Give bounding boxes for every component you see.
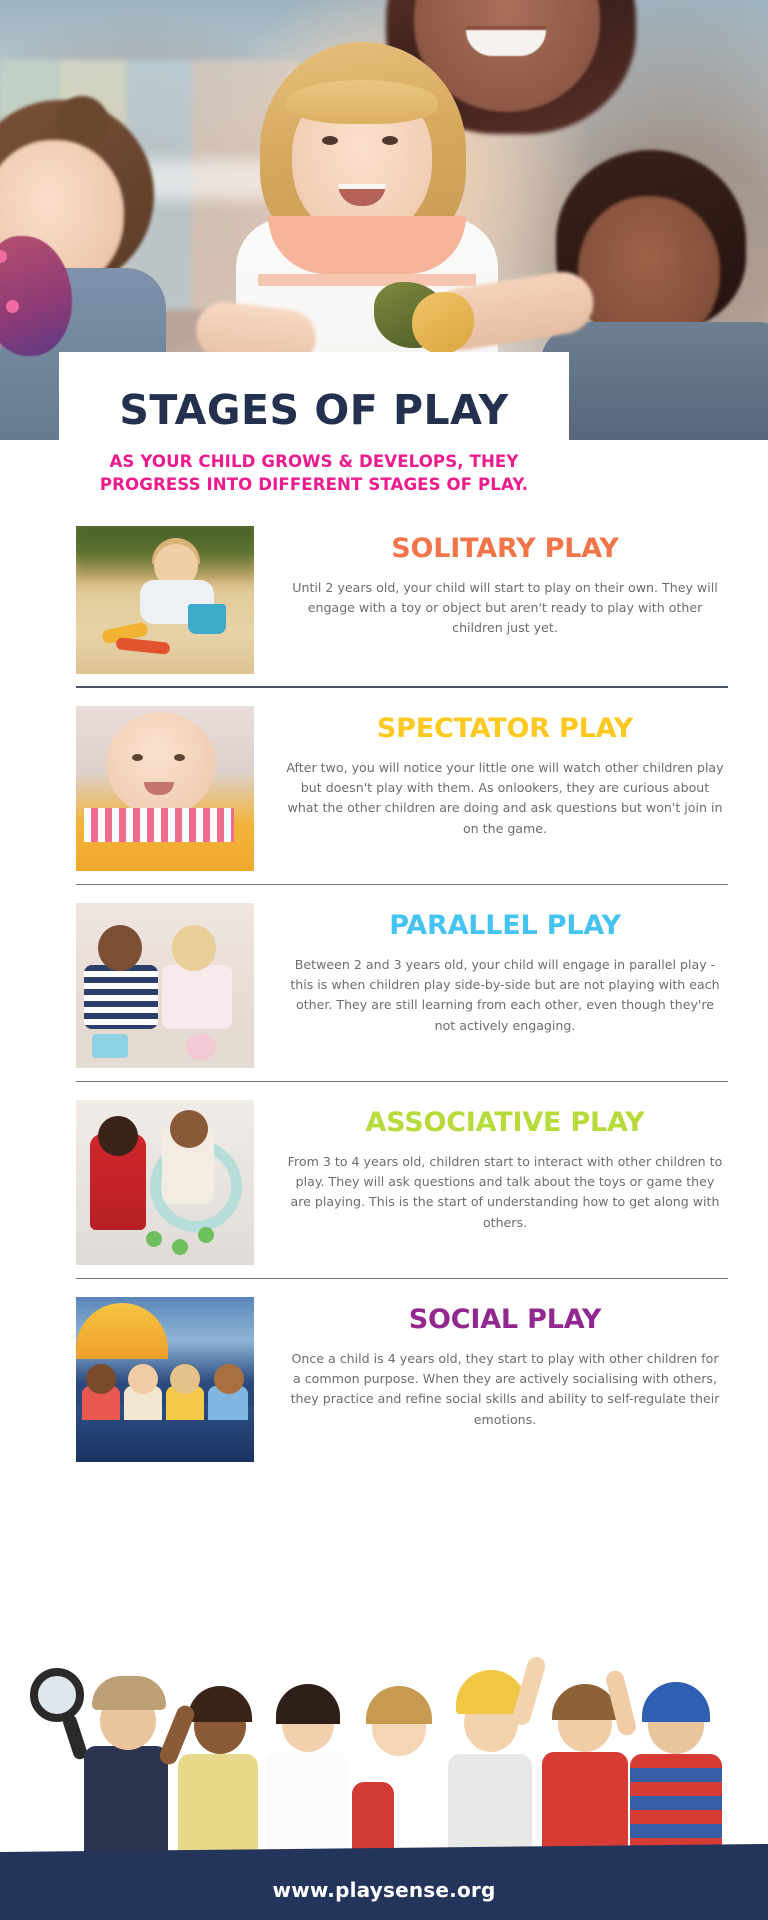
stage-title-spectator-play: SPECTATOR PLAY xyxy=(282,714,728,744)
hero-toy-bead xyxy=(6,300,19,313)
bottom-child-7-superhero-mask xyxy=(642,1682,710,1722)
baby-photo xyxy=(76,706,254,871)
parallel-play-photo xyxy=(76,903,254,1068)
social-child-head xyxy=(170,1364,200,1394)
stage-thumbnail-social-play xyxy=(76,1297,254,1462)
stage-thumbnail-associative-play xyxy=(76,1100,254,1265)
stage-title-parallel-play: PARALLEL PLAY xyxy=(282,911,728,941)
bottom-child-1-hat xyxy=(92,1676,166,1710)
social-child-head xyxy=(86,1364,116,1394)
hero-center-girl-fringe xyxy=(286,80,438,124)
baby-head xyxy=(106,712,216,816)
associative-green-ball xyxy=(146,1231,162,1247)
bottom-child-2-hair xyxy=(188,1686,252,1722)
hero-right-child-body xyxy=(540,322,768,440)
stage-title-solitary-play: SOLITARY PLAY xyxy=(282,534,728,564)
stage-item-spectator-play: SPECTATOR PLAY After two, you will notic… xyxy=(0,688,768,885)
page-subtitle-line-2: PROGRESS INTO DIFFERENT STAGES OF PLAY. xyxy=(71,473,557,497)
stage-text-associative-play: From 3 to 4 years old, children start to… xyxy=(282,1152,728,1234)
magnifying-glass-icon xyxy=(30,1668,84,1722)
stage-item-associative-play: ASSOCIATIVE PLAY From 3 to 4 years old, … xyxy=(0,1082,768,1279)
social-tent xyxy=(76,1303,168,1359)
stage-title-associative-play: ASSOCIATIVE PLAY xyxy=(282,1108,728,1138)
stage-item-social-play: SOCIAL PLAY Once a child is 4 years old,… xyxy=(0,1279,768,1476)
parallel-child-2-head xyxy=(172,925,216,971)
bottom-child-3-hair xyxy=(276,1684,340,1724)
hero-center-girl-collar xyxy=(268,216,466,274)
page-subtitle: AS YOUR CHILD GROWS & DEVELOPS, THEY PRO… xyxy=(59,450,569,497)
hero-center-girl-eye-right xyxy=(382,136,398,145)
page-subtitle-line-1: AS YOUR CHILD GROWS & DEVELOPS, THEY xyxy=(71,450,557,474)
parallel-child-1-body xyxy=(84,965,158,1029)
social-play-photo xyxy=(76,1297,254,1462)
infographic-page: STAGES OF PLAY AS YOUR CHILD GROWS & DEV… xyxy=(0,0,768,1920)
footer-website-url[interactable]: www.playsense.org xyxy=(273,1878,496,1902)
hero-center-girl-trim xyxy=(258,274,476,286)
sandpit-photo xyxy=(76,526,254,674)
stage-thumbnail-spectator-play xyxy=(76,706,254,871)
associative-green-ball xyxy=(198,1227,214,1243)
sandpit-spade-orange xyxy=(116,637,171,655)
parallel-child-1-head xyxy=(98,925,142,971)
baby-eye-left xyxy=(132,754,143,761)
bottom-child-4-hair xyxy=(366,1686,432,1724)
parallel-toy-block xyxy=(92,1034,128,1058)
stage-text-solitary-play: Until 2 years old, your child will start… xyxy=(282,578,728,639)
stage-title-social-play: SOCIAL PLAY xyxy=(282,1305,728,1335)
stage-text-parallel-play: Between 2 and 3 years old, your child wi… xyxy=(282,955,728,1037)
social-child-head xyxy=(214,1364,244,1394)
stage-text-spectator-play: After two, you will notice your little o… xyxy=(282,758,728,840)
stages-list: SOLITARY PLAY Until 2 years old, your ch… xyxy=(0,508,768,1476)
stage-text-social-play: Once a child is 4 years old, they start … xyxy=(282,1349,728,1431)
associative-child-red-head xyxy=(98,1116,138,1156)
footer-bar: www.playsense.org xyxy=(0,1860,768,1920)
associative-green-ball xyxy=(172,1239,188,1255)
hero-left-child-bun xyxy=(56,96,108,146)
baby-striped-shirt xyxy=(84,808,234,842)
sandpit-bucket xyxy=(188,604,226,634)
baby-eye-right xyxy=(174,754,185,761)
associative-child-2-head xyxy=(170,1110,208,1148)
stage-item-solitary-play: SOLITARY PLAY Until 2 years old, your ch… xyxy=(0,508,768,688)
page-title: STAGES OF PLAY xyxy=(59,388,569,434)
hero-center-girl-eye-left xyxy=(322,136,338,145)
social-child-head xyxy=(128,1364,158,1394)
stage-item-parallel-play: PARALLEL PLAY Between 2 and 3 years old,… xyxy=(0,885,768,1082)
bottom-photo-strip xyxy=(0,1586,768,1886)
stage-thumbnail-solitary-play xyxy=(76,526,254,674)
associative-play-photo xyxy=(76,1100,254,1265)
title-card: STAGES OF PLAY AS YOUR CHILD GROWS & DEV… xyxy=(59,352,569,509)
parallel-toy-ball xyxy=(186,1034,216,1060)
parallel-child-2-body xyxy=(162,965,232,1029)
stage-thumbnail-parallel-play xyxy=(76,903,254,1068)
